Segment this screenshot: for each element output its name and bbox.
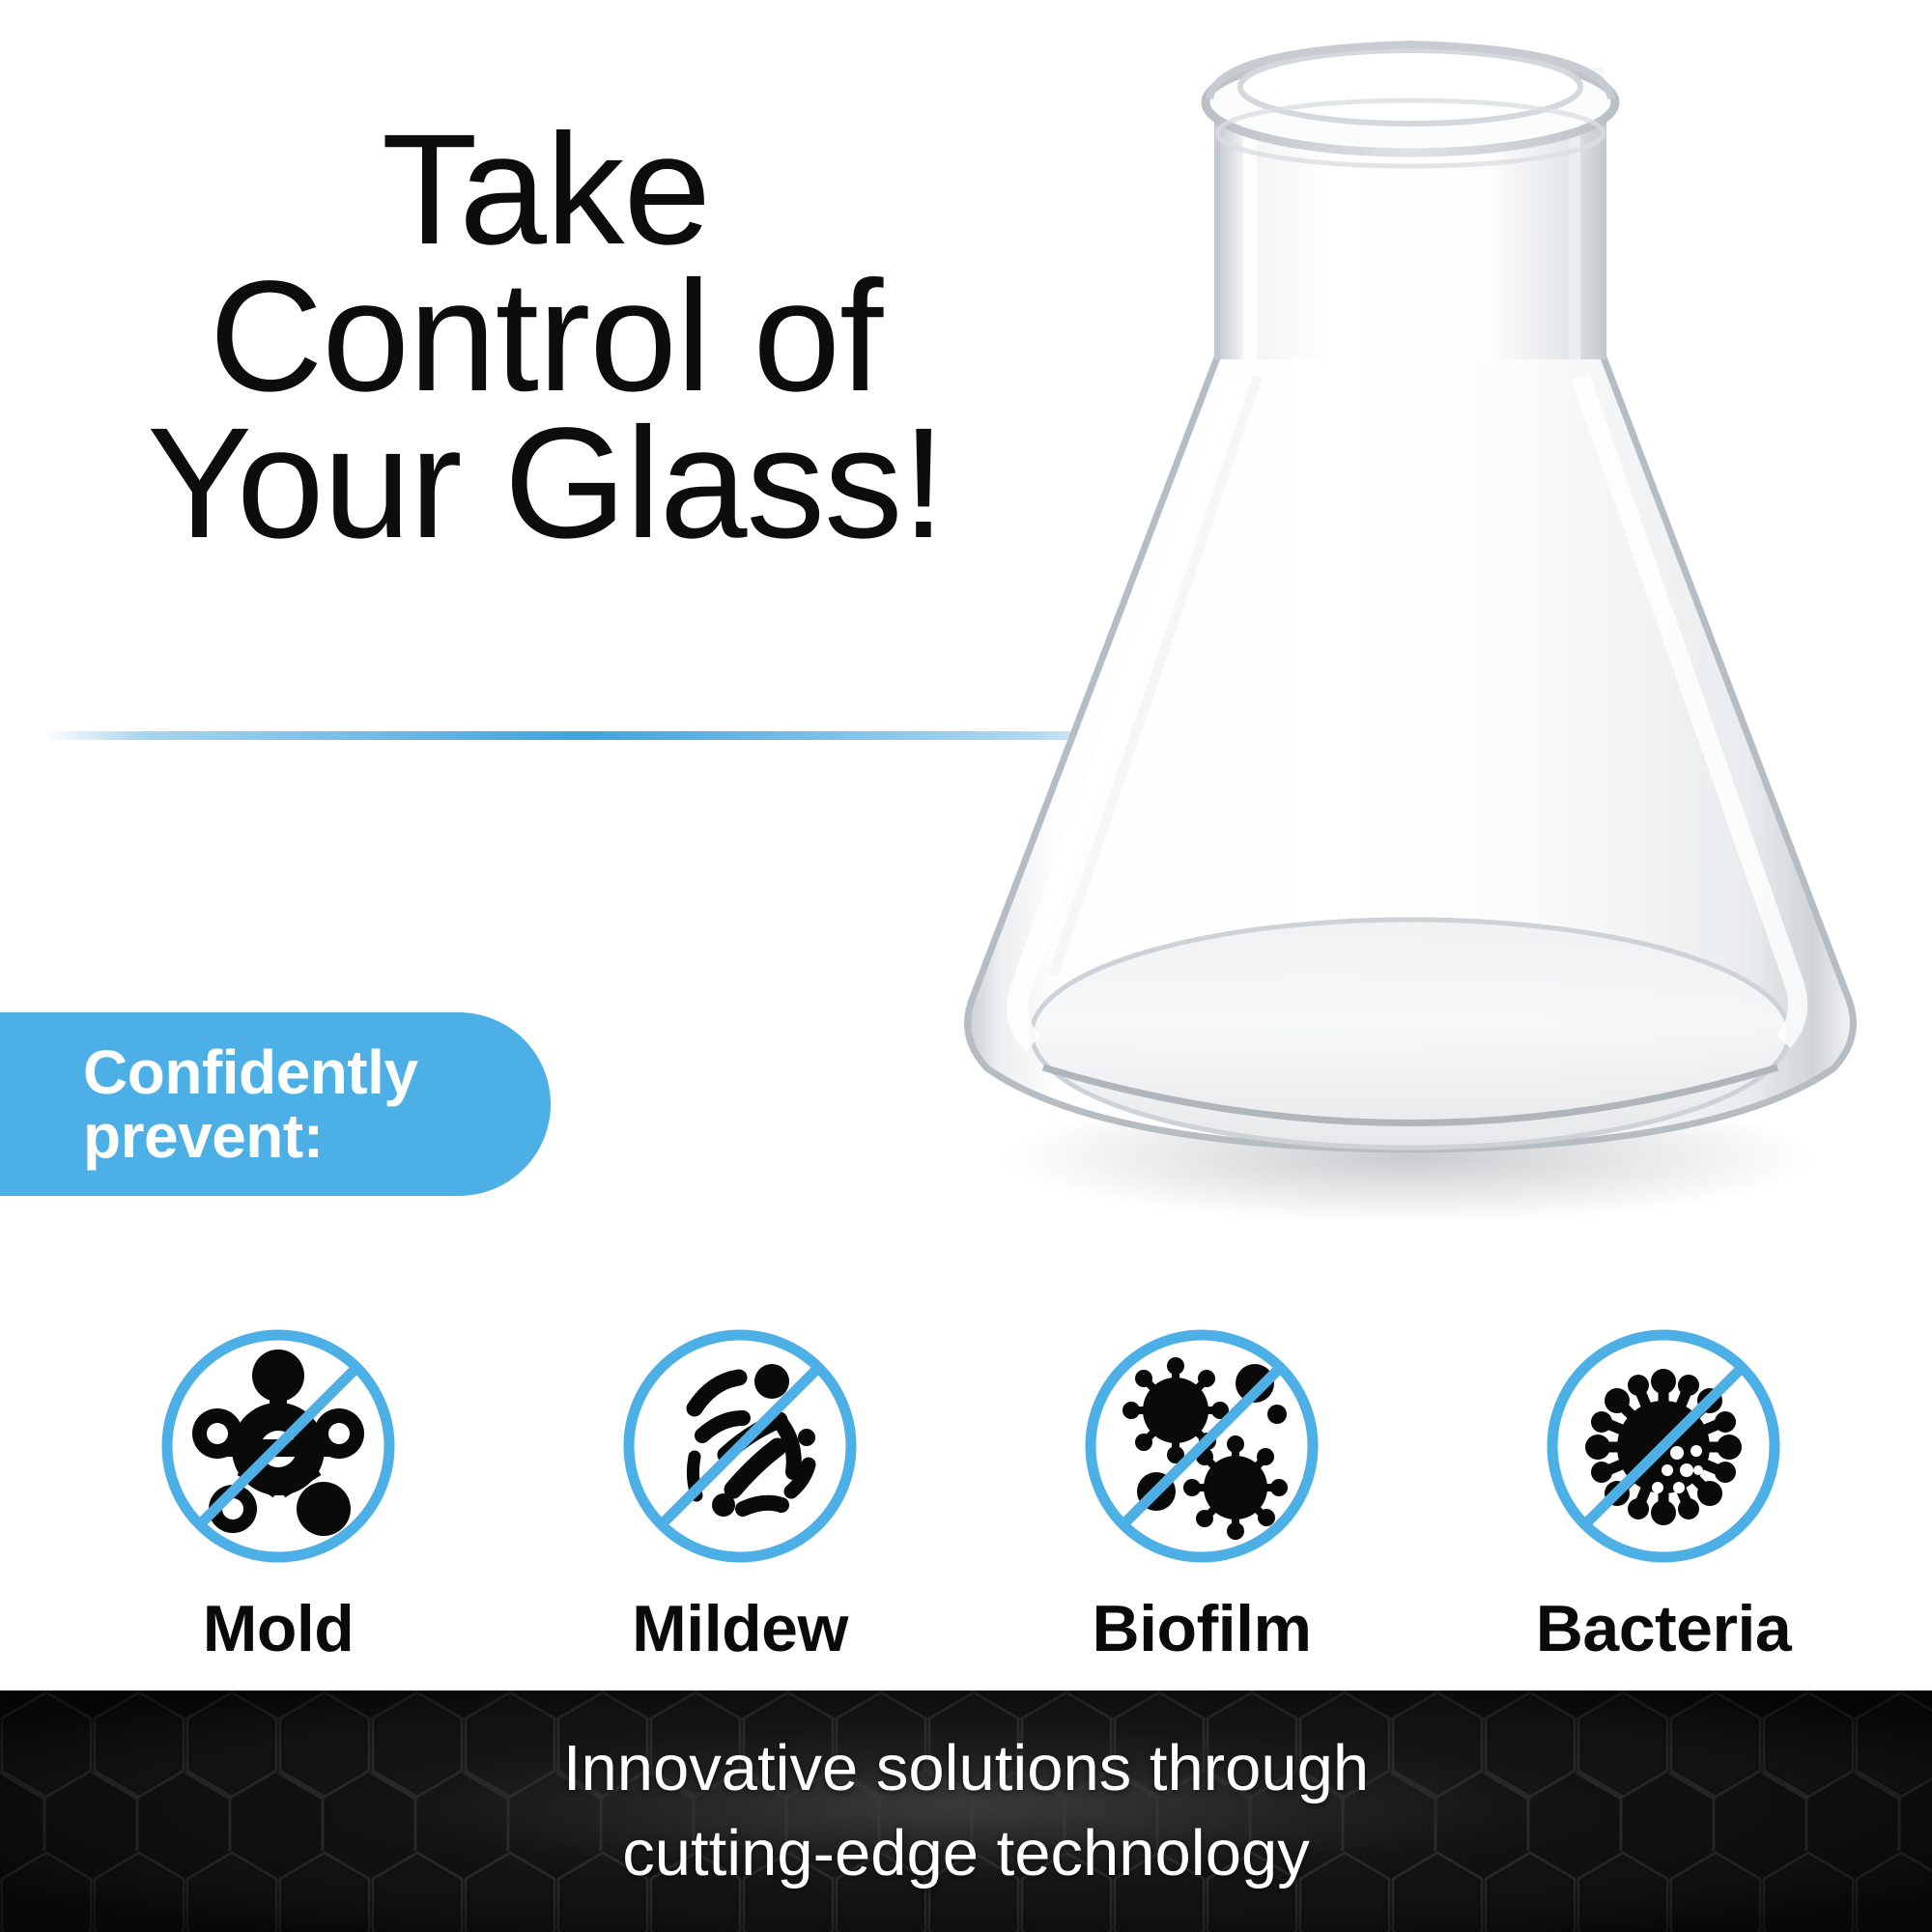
prevent-item-label: Bacteria (1519, 1591, 1808, 1666)
no-mildew-icon (619, 1325, 861, 1567)
badge-label: Confidently prevent: (83, 1040, 417, 1168)
tagline-banner: Innovative solutions through cutting-edg… (0, 1690, 1932, 1932)
promo-graphic: Take Control of Your Glass! (0, 0, 1932, 1932)
prevent-item-label: Mold (133, 1591, 423, 1666)
product-photo (898, 10, 1932, 1246)
prevent-item-biofilm: Biofilm (1057, 1325, 1347, 1666)
tagline-text: Innovative solutions through cutting-edg… (0, 1690, 1932, 1932)
prevent-item-label: Mildew (595, 1591, 885, 1666)
no-biofilm-icon (1081, 1325, 1322, 1567)
prevent-item-bacteria: Bacteria (1519, 1325, 1808, 1666)
prevent-icon-row: Mold (0, 1325, 1932, 1673)
page-title: Take Control of Your Glass! (58, 116, 1034, 556)
prevent-item-mold: Mold (133, 1325, 423, 1666)
no-mold-icon (157, 1325, 399, 1567)
no-bacteria-icon (1543, 1325, 1784, 1567)
erlenmeyer-flask-icon (898, 10, 1932, 1246)
confidently-prevent-badge: Confidently prevent: (0, 1012, 551, 1196)
prevent-item-label: Biofilm (1057, 1591, 1347, 1666)
prevent-item-mildew: Mildew (595, 1325, 885, 1666)
